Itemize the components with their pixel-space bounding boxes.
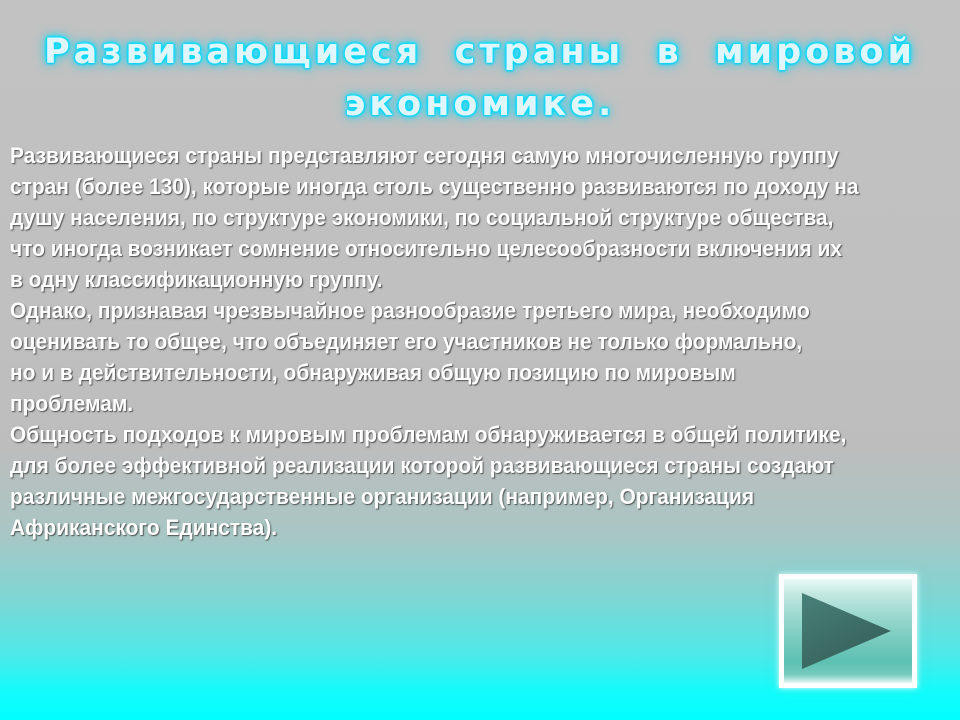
- body-line: стран (более 130), которые иногда столь …: [10, 171, 888, 202]
- body-line: оценивать то общее, что объединяет его у…: [10, 326, 888, 357]
- presentation-slide: Развивающиеся страны в мировой экономике…: [0, 0, 960, 720]
- body-line: Развивающиеся страны представляют сегодн…: [10, 140, 888, 171]
- slide-title: Развивающиеся страны в мировой экономике…: [0, 26, 960, 130]
- body-line: душу населения, по структуре экономики, …: [10, 202, 888, 233]
- slide-title-line-2: экономике.: [0, 78, 960, 130]
- body-line: Африканского Единства).: [10, 512, 888, 543]
- slide-body-text: Развивающиеся страны представляют сегодн…: [10, 140, 954, 543]
- body-line: но и в действительности, обнаруживая общ…: [10, 357, 888, 388]
- slide-title-line-1: Развивающиеся страны в мировой: [0, 26, 960, 78]
- body-line: проблемам.: [10, 388, 888, 419]
- body-line: различные межгосударственные организации…: [10, 481, 888, 512]
- body-line: Общность подходов к мировым проблемам об…: [10, 419, 888, 450]
- body-line: в одну классификационную группу.: [10, 264, 888, 295]
- next-slide-button[interactable]: [779, 574, 917, 688]
- play-triangle-icon: [784, 579, 912, 683]
- body-line: что иногда возникает сомнение относитель…: [10, 233, 888, 264]
- body-line: для более эффективной реализации которой…: [10, 450, 888, 481]
- body-line: Однако, признавая чрезвычайное разнообра…: [10, 295, 888, 326]
